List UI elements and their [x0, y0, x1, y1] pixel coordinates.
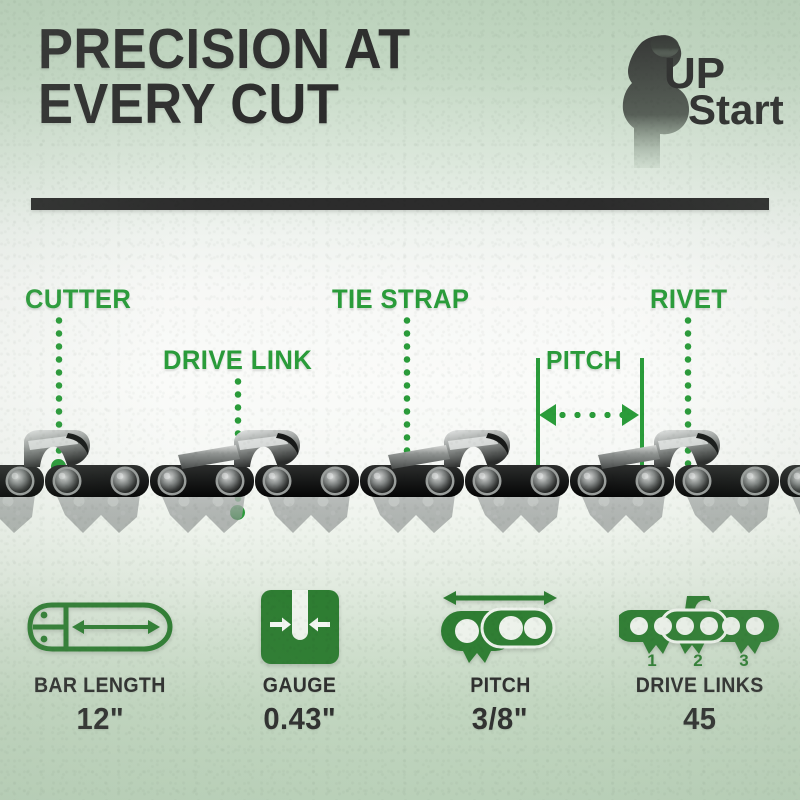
- spec-pitch-value: 3/8": [472, 701, 528, 737]
- spec-bar-length-label: BAR LENGTH: [34, 674, 166, 698]
- infographic-poster: PRECISION AT EVERY CUT UP Start CUTTER D…: [0, 0, 800, 800]
- spec-pitch: PITCH 3/8": [400, 588, 600, 748]
- chain-pitch-icon: [439, 588, 561, 666]
- spec-gauge-value: 0.43": [264, 701, 337, 737]
- header-divider-rule: [31, 198, 769, 210]
- spec-pitch-label: PITCH: [470, 674, 530, 698]
- spec-row: BAR LENGTH 12" GAUGE 0.43": [0, 588, 800, 748]
- spec-drive-links-value: 45: [683, 701, 716, 737]
- callout-label-pitch: PITCH: [546, 345, 622, 376]
- drive-link-number-1: 1: [647, 651, 656, 666]
- chain-segments: [0, 465, 800, 533]
- title-line-1: PRECISION AT: [38, 22, 581, 77]
- upstart-logo: UP Start: [598, 28, 788, 168]
- callout-label-drive-link: DRIVE LINK: [163, 345, 312, 376]
- callout-label-tie-strap: TIE STRAP: [332, 284, 469, 315]
- spec-drive-links-label: DRIVE LINKS: [636, 674, 764, 698]
- drive-links-icon: 1 2 3: [619, 588, 781, 666]
- logo-word-start: Start: [688, 86, 784, 133]
- spec-bar-length-value: 12": [76, 701, 124, 737]
- title-line-2: EVERY CUT: [38, 77, 581, 132]
- callout-label-rivet: RIVET: [650, 284, 727, 315]
- spec-bar-length: BAR LENGTH 12": [0, 588, 200, 748]
- spec-gauge: GAUGE 0.43": [200, 588, 400, 748]
- chainsaw-chain-photo: [0, 415, 800, 550]
- guide-bar-icon: [26, 588, 174, 666]
- page-title: PRECISION AT EVERY CUT: [38, 22, 581, 133]
- drive-link-number-3: 3: [739, 651, 748, 666]
- callout-label-cutter: CUTTER: [25, 284, 131, 315]
- spec-drive-links: 1 2 3 DRIVE LINKS 45: [600, 588, 800, 748]
- drive-link-number-2: 2: [693, 651, 702, 666]
- gauge-slot-icon: [261, 588, 339, 666]
- spec-gauge-label: GAUGE: [263, 674, 336, 698]
